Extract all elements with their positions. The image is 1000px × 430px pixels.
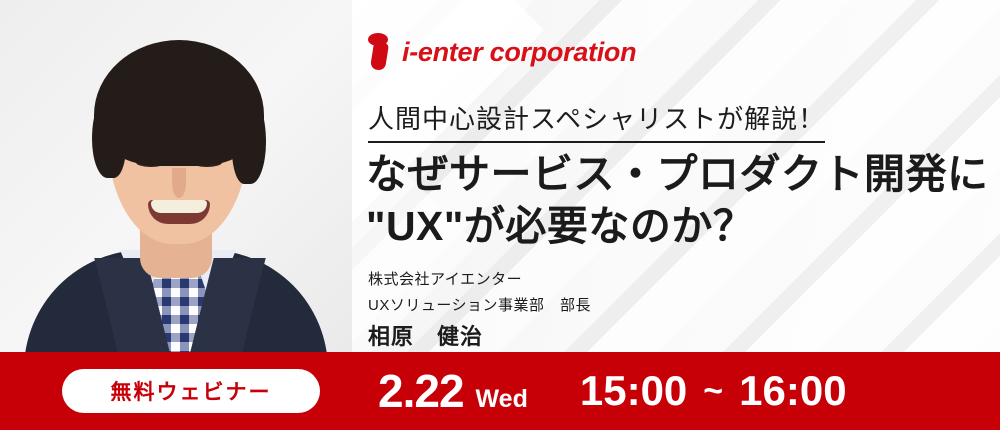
webinar-banner: i-enter corporation 人間中心設計スペシャリストが解説！ なぜ… [0, 0, 1000, 430]
headline-title: なぜサービス・プロダクト開発に "UX"が必要なのか？ [366, 148, 989, 253]
headline-title-line2: "UX"が必要なのか？ [366, 200, 989, 252]
photo-hair-side-left [92, 92, 126, 178]
event-time-separator: ~ [703, 372, 723, 411]
footer-bar: 無料ウェビナー 2.22 Wed 15:00 ~ 16:00 [0, 352, 1000, 430]
speaker-company: 株式会社アイエンター [368, 268, 591, 289]
i-enter-pin-logo-icon [366, 33, 392, 71]
event-day-of-week: Wed [476, 385, 528, 414]
logo-cylinder-icon [370, 41, 389, 71]
headline-ux-term: "UX" [366, 203, 464, 249]
headline-kicker: 人間中心設計スペシャリストが解説！ [368, 99, 825, 143]
speaker-photo [0, 0, 352, 352]
speaker-info: 株式会社アイエンター UXソリューション事業部 部長 相原 健治 [368, 268, 591, 351]
speaker-department: UXソリューション事業部 部長 [368, 294, 591, 315]
photo-teeth [151, 200, 207, 213]
headline-title-line2-rest: が必要なのか？ [464, 203, 755, 249]
photo-nose [172, 168, 186, 198]
brand-logo: i-enter corporation [366, 33, 636, 71]
free-webinar-badge: 無料ウェビナー [62, 369, 320, 413]
event-date: 2.22 Wed [378, 364, 528, 418]
event-time-start: 15:00 [580, 367, 687, 415]
headline-title-line1: なぜサービス・プロダクト開発に [366, 148, 989, 200]
speaker-name: 相原 健治 [368, 319, 591, 351]
event-time-range: 15:00 ~ 16:00 [580, 367, 847, 415]
brand-name: i-enter corporation [402, 37, 636, 68]
event-time-end: 16:00 [739, 367, 846, 415]
event-date-number: 2.22 [378, 364, 464, 418]
